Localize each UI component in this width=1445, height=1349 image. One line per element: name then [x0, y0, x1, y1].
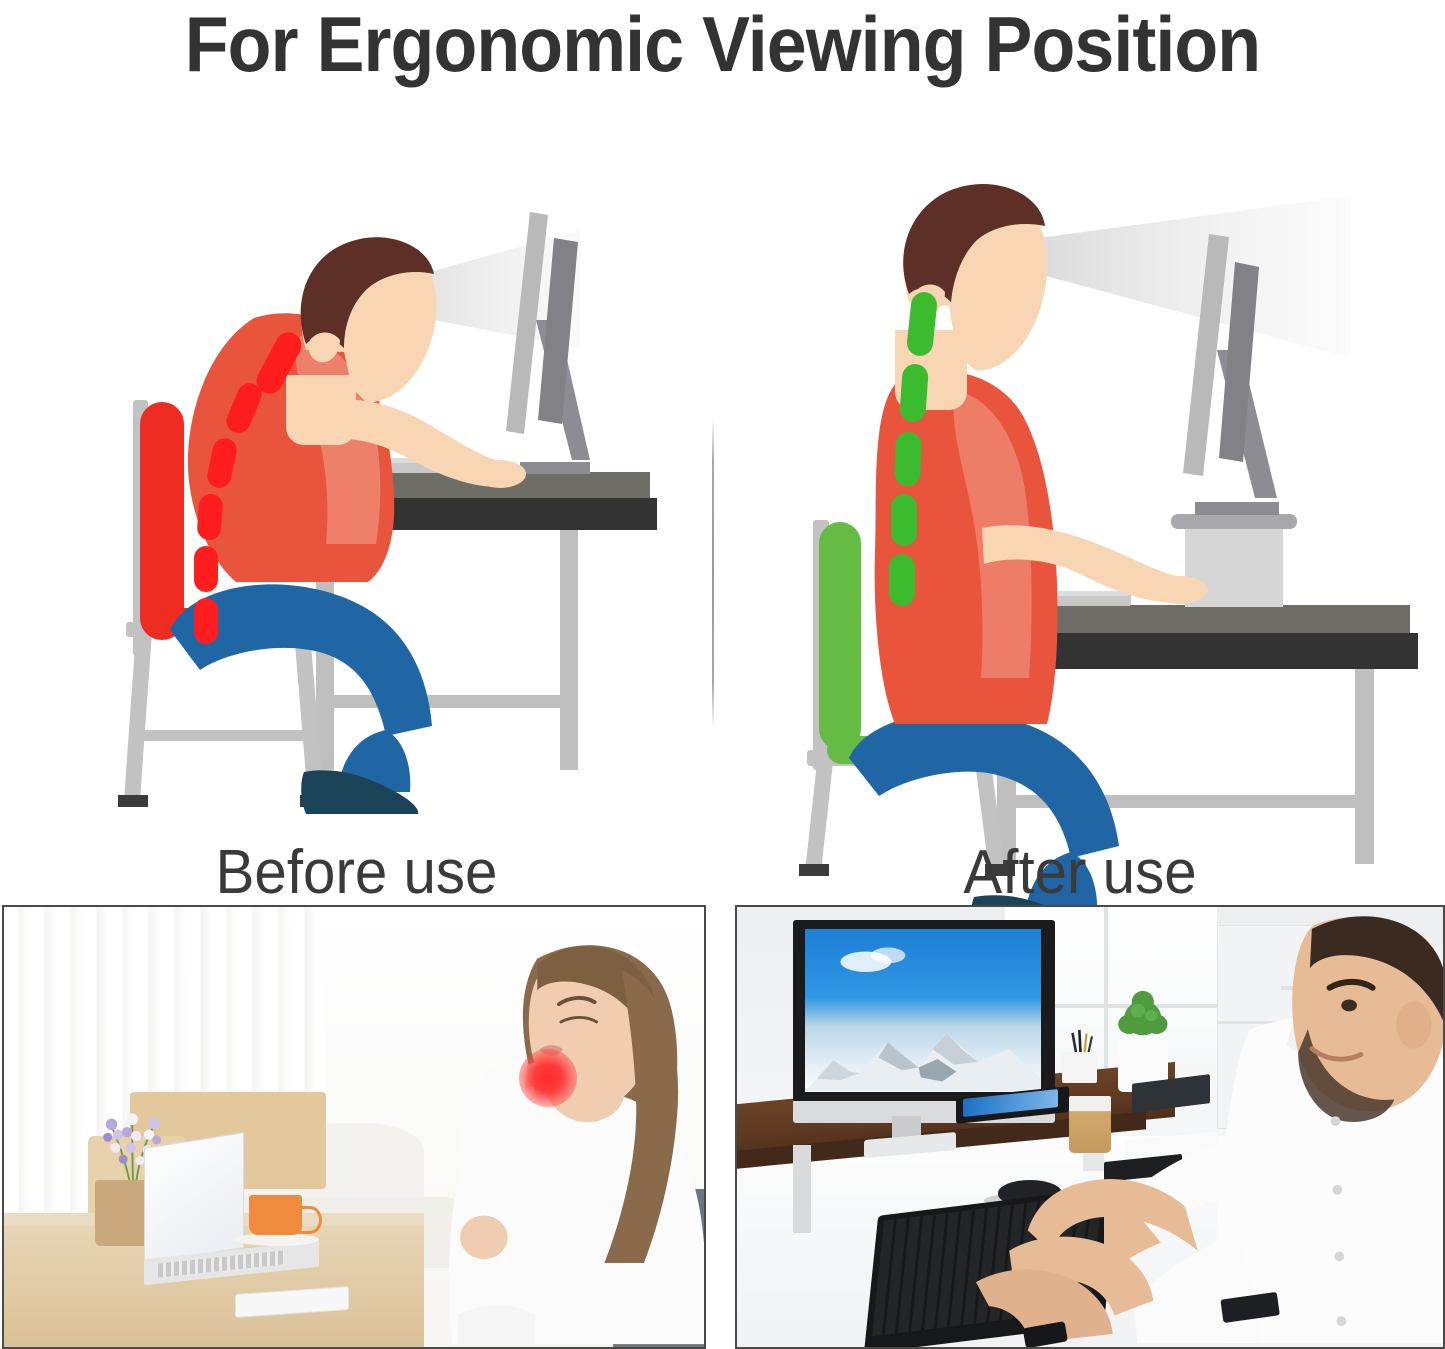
desk-leg-back: [1355, 669, 1374, 864]
spine-indicator-bad: [168, 330, 348, 650]
riser-leg-left: [793, 1145, 811, 1233]
before-caption: Before use: [21, 837, 691, 908]
laptop-screen: [144, 1132, 244, 1264]
coffee-cup: [249, 1195, 302, 1235]
cup-handle: [298, 1206, 322, 1234]
after-illustration-panel: After use: [715, 150, 1445, 900]
after-caption: After use: [737, 837, 1423, 908]
wallpaper-cloud: [822, 938, 935, 978]
before-illustration-panel: Before use: [0, 150, 713, 900]
monitor-screen: [1177, 234, 1241, 484]
page-title: For Ergonomic Viewing Position: [58, 0, 1387, 92]
spine-indicator-good: [865, 292, 985, 642]
pen-holder: [1062, 1052, 1097, 1083]
mountain-wallpaper-art: [805, 1021, 1042, 1091]
photo-neck-pain: [2, 905, 706, 1349]
flower-pot: [95, 1180, 151, 1246]
person-shoe: [300, 770, 430, 816]
comparison-illustrations: Before use: [0, 150, 1445, 900]
neck-pain-marker: [519, 1049, 577, 1107]
photo-product-in-use: [735, 905, 1445, 1349]
person-arm: [980, 520, 1210, 625]
hands-typing: [906, 1162, 1231, 1347]
woman-figure: [389, 916, 706, 1347]
infographic-page: For Ergonomic Viewing Position: [0, 0, 1445, 1348]
desk-leg-back: [560, 530, 578, 770]
chair-foot-left: [118, 795, 148, 807]
photo-row: [0, 905, 1445, 1348]
